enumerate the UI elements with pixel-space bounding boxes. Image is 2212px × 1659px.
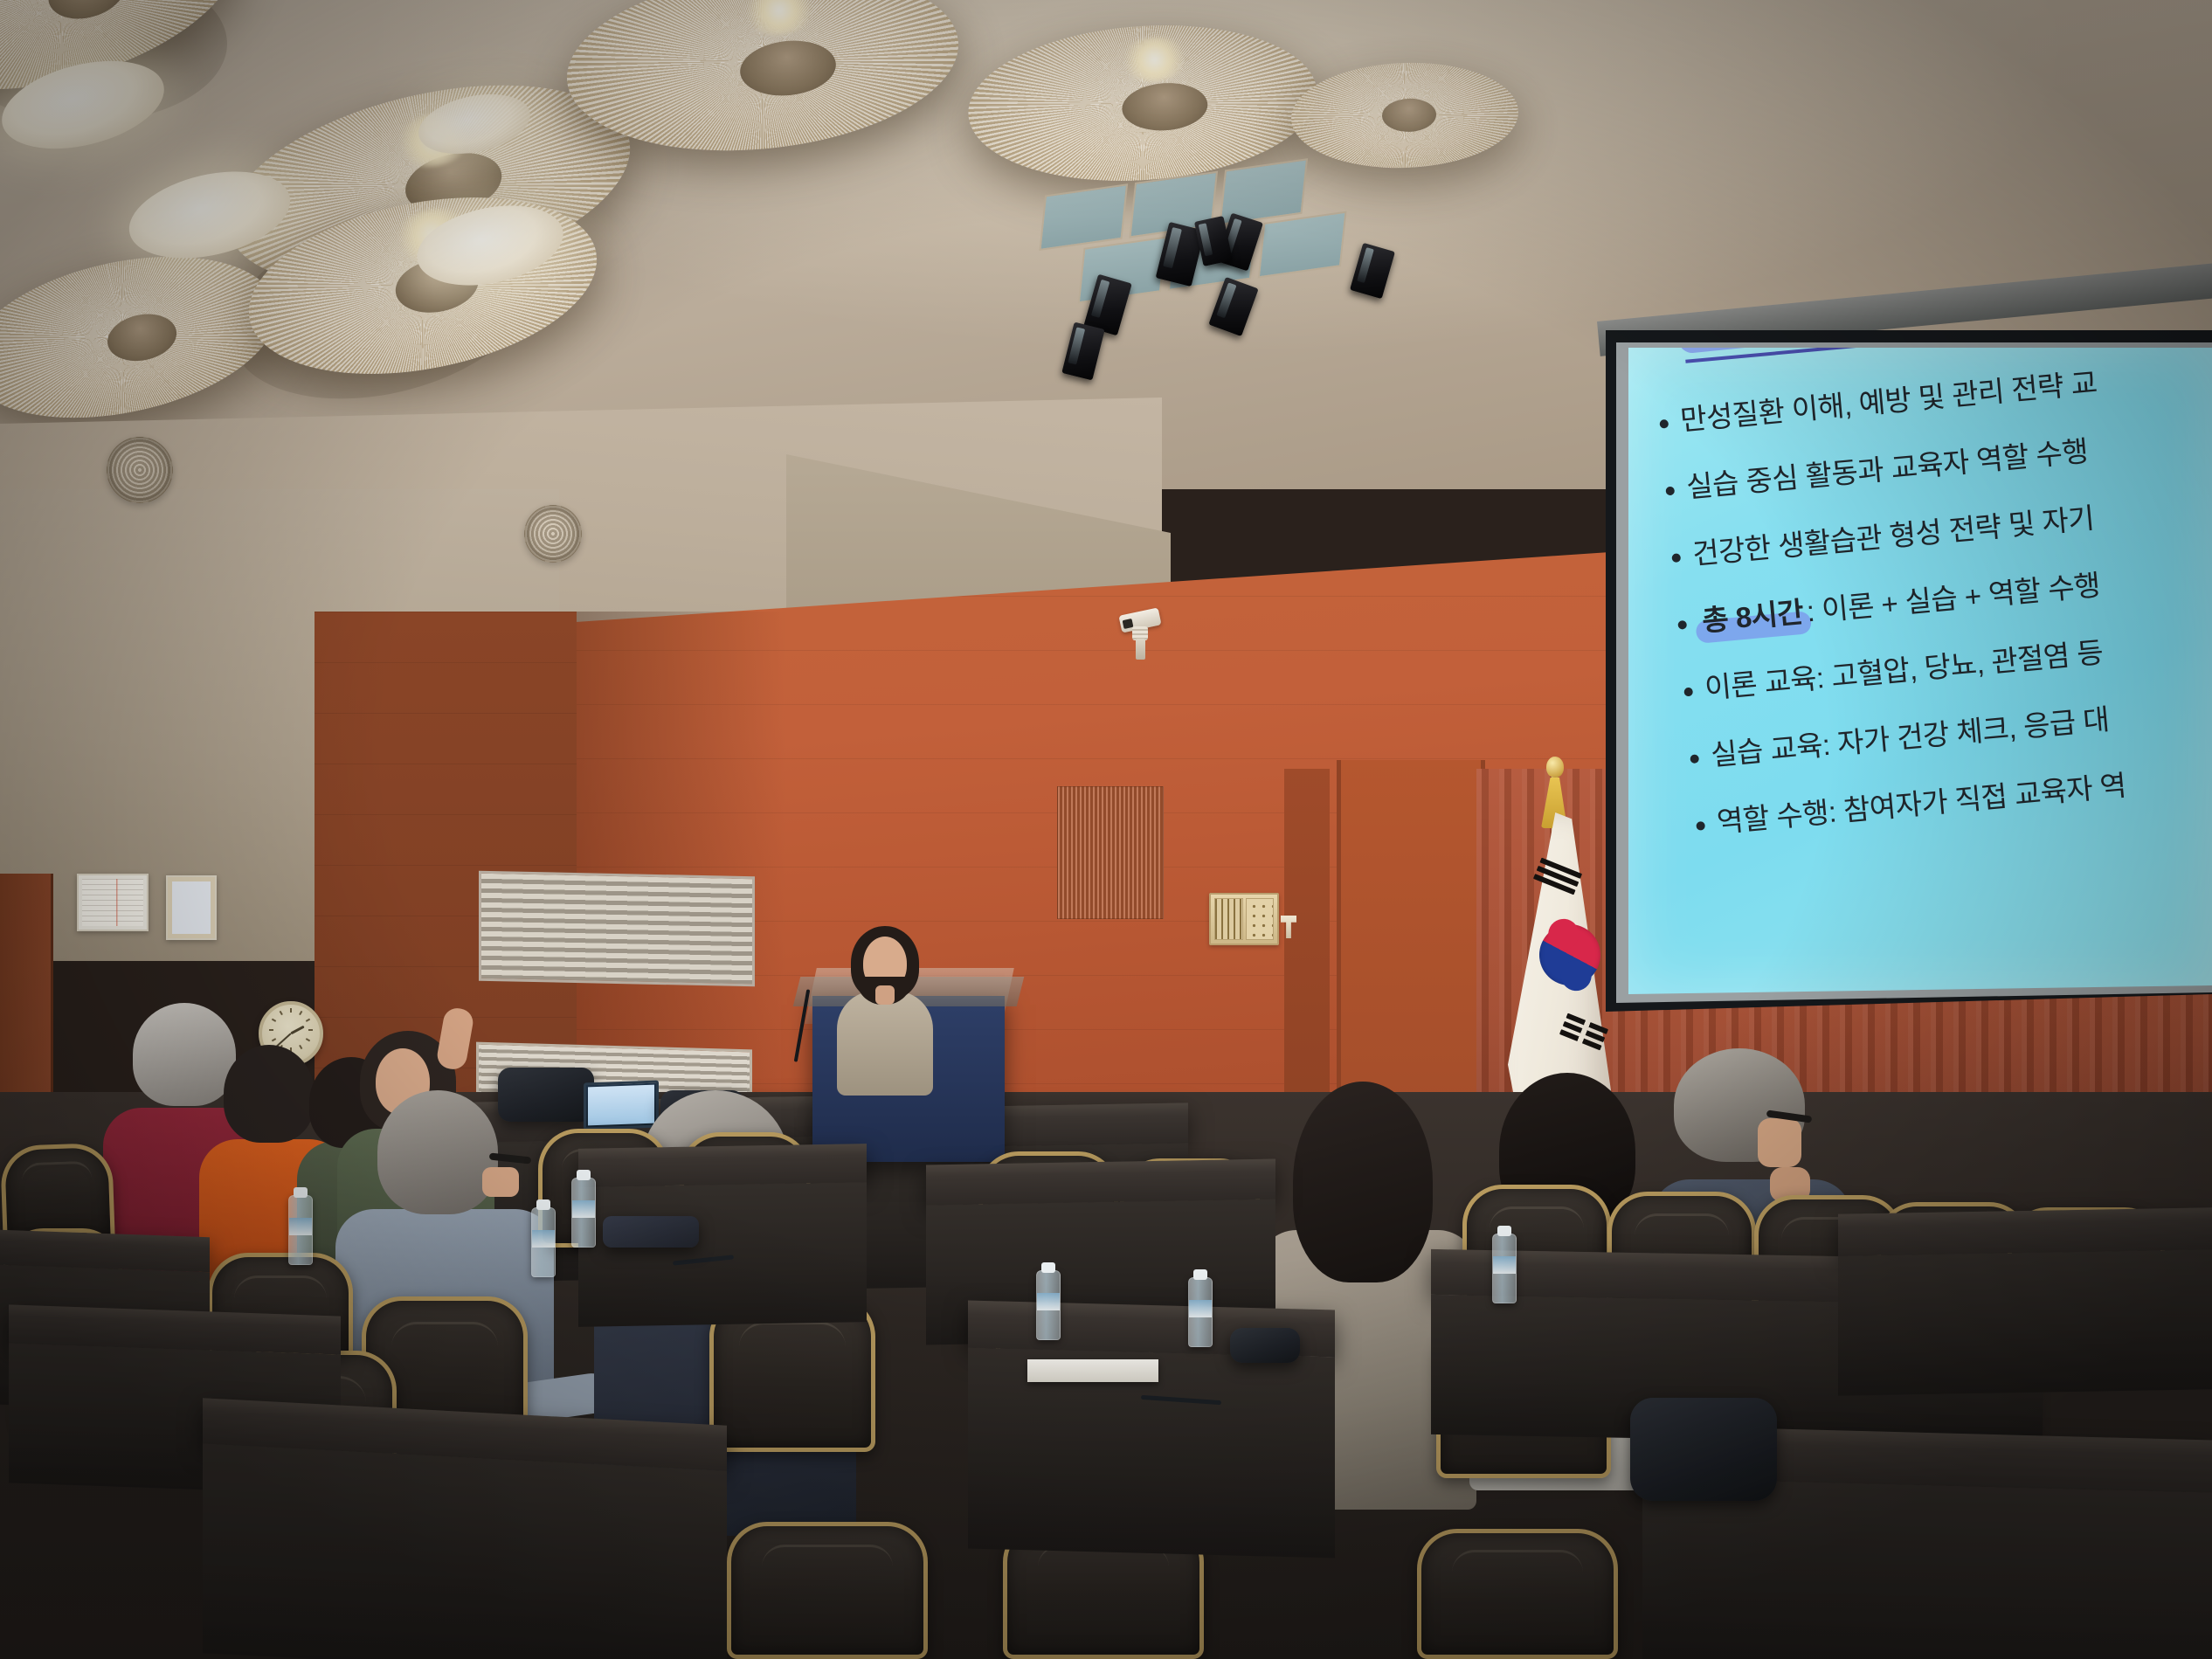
wall-poster (77, 874, 149, 931)
chair[interactable] (727, 1522, 928, 1659)
ceiling-speaker-icon (524, 505, 582, 563)
bag (603, 1216, 699, 1248)
bullet-highlight: 총 8시간 (1697, 595, 1808, 639)
bullet-dot-icon (1677, 620, 1687, 630)
table-row (578, 1144, 867, 1187)
bullet-dot-icon (1665, 487, 1675, 496)
ceiling-speaker-icon (107, 437, 173, 503)
water-bottle (1492, 1234, 1517, 1303)
presenter (832, 926, 937, 1083)
slide-content: 교육 프로그램 구성 만성질환 이해, 예방 및 관리 전략 교 실습 중심 활… (1628, 348, 2212, 994)
water-bottle (1188, 1277, 1213, 1347)
bullet-dot-icon (1696, 821, 1705, 831)
bag (1230, 1328, 1300, 1363)
water-bottle (531, 1207, 556, 1277)
flag-finial (1546, 757, 1564, 778)
water-bottle (571, 1178, 596, 1248)
av-control-panel[interactable] (1209, 893, 1279, 945)
chair[interactable] (1417, 1529, 1618, 1659)
slide-title: 교육 프로그램 구성 (1679, 348, 2036, 363)
table-row (1838, 1207, 2212, 1255)
bullet-dot-icon (1683, 688, 1693, 697)
water-bottle (1036, 1270, 1061, 1340)
table-row (926, 1159, 1275, 1206)
water-bottle (288, 1195, 313, 1265)
bullet-dot-icon (1671, 553, 1681, 563)
slide-bullet-list: 만성질환 이해, 예방 및 관리 전략 교 실습 중심 활동과 교육자 역할 수… (1637, 350, 2212, 843)
bullet-dot-icon (1690, 754, 1699, 764)
framed-certificate (166, 875, 217, 940)
slide-bullet: 만성질환 이해, 예방 및 관리 전략 교 (1658, 350, 2212, 439)
wall-grille (1057, 786, 1164, 919)
clock-hour-hand (290, 1026, 304, 1035)
backpack (1630, 1398, 1777, 1501)
louver-vent (479, 871, 755, 987)
projection-screen: 교육 프로그램 구성 만성질환 이해, 예방 및 관리 전략 교 실습 중심 활… (1628, 348, 2212, 994)
security-camera-icon (1118, 612, 1160, 669)
bullet-dot-icon (1659, 419, 1669, 429)
table-row (0, 1230, 210, 1272)
conference-hall-photo: 교육 프로그램 구성 만성질환 이해, 예방 및 관리 전략 교 실습 중심 활… (0, 0, 2212, 1659)
notebook (1027, 1359, 1158, 1382)
